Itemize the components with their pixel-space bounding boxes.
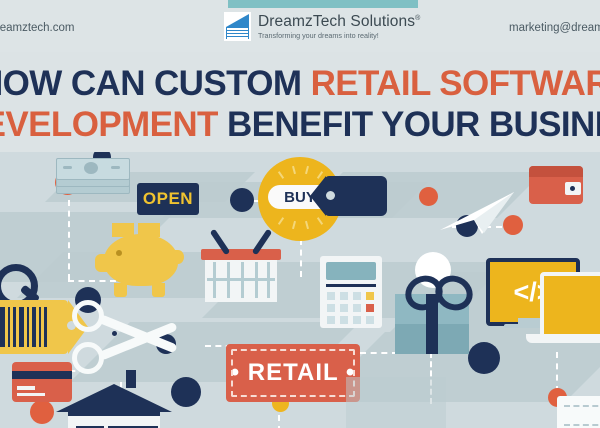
gift-box-icon	[395, 294, 469, 354]
laptop-icon	[540, 272, 600, 342]
document-stripes-icon	[224, 12, 251, 41]
top-accent-bar	[228, 0, 418, 8]
promotional-banner: www.dreamztech.com marketing@dreamztech.…	[0, 0, 600, 428]
decorative-dot	[230, 188, 254, 212]
money-stack-icon	[56, 158, 128, 202]
headline-line2-orange: DEVELOPMENT	[0, 105, 218, 144]
piggy-bank-icon	[104, 234, 178, 286]
logo-title: DreamzTech Solutions®	[258, 14, 420, 30]
paper-plane-icon	[438, 190, 516, 236]
headline-line-1: HOW CAN CUSTOM RETAIL SOFTWARE	[0, 66, 600, 101]
decorative-dot	[30, 400, 54, 424]
coupon-icon	[557, 396, 600, 428]
company-logo: DreamzTech Solutions® Transforming your …	[224, 12, 420, 41]
banner-header: www.dreamztech.com marketing@dreamztech.…	[0, 0, 600, 52]
headline-line1-orange: RETAIL SOFTWARE	[311, 64, 600, 103]
dashed-path	[556, 352, 558, 392]
wallet-icon	[529, 166, 583, 204]
headline-line-2: DEVELOPMENT BENEFIT YOUR BUSINESS?	[0, 107, 600, 142]
headline-line1-navy: HOW CAN CUSTOM	[0, 64, 311, 103]
price-tag-icon	[325, 176, 387, 216]
barcode-tag-icon	[0, 300, 68, 354]
headline-line2-navy: BENEFIT YOUR BUSINESS?	[218, 105, 600, 144]
headline-block: HOW CAN CUSTOM RETAIL SOFTWARE DEVELOPME…	[0, 52, 600, 152]
shopping-basket-icon	[205, 258, 277, 302]
open-sign-icon: OPEN	[137, 183, 199, 215]
logo-tagline: Transforming your dreams into reality!	[258, 32, 420, 39]
registered-mark: ®	[415, 14, 420, 21]
open-sign-label: OPEN	[143, 189, 193, 209]
retail-illustration: OPEN BUY	[0, 152, 600, 428]
website-url: www.dreamztech.com	[0, 22, 74, 34]
shadow	[346, 377, 446, 428]
dashed-path	[68, 200, 70, 280]
contact-email: marketing@dreamztech.com	[509, 22, 600, 34]
decorative-dot	[171, 377, 201, 407]
decorative-dot	[419, 187, 438, 206]
shop-building-icon	[68, 410, 160, 428]
decorative-dot	[468, 342, 500, 374]
retail-stamp: • RETAIL •	[226, 344, 360, 402]
logo-title-text: DreamzTech Solutions	[258, 13, 415, 30]
calculator-icon	[320, 256, 382, 328]
